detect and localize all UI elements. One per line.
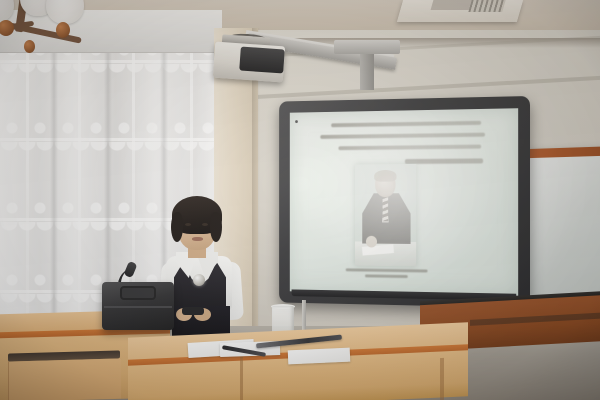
teacher-desk-leg [440, 358, 444, 400]
teacher-desk-panel-seam [240, 356, 243, 400]
projector-wall-bracket [334, 40, 400, 54]
presenter-hair-right [210, 212, 222, 242]
chandelier-shade [0, 0, 14, 22]
paper-sheet [288, 348, 351, 365]
chandelier [0, 0, 124, 72]
chandelier-ornament [56, 22, 70, 38]
chandelier-shade [46, 0, 84, 24]
projector-lens [239, 46, 285, 73]
side-cabinet-door[interactable] [8, 358, 121, 400]
ceiling-vent-grille [468, 0, 505, 12]
presenter-eye-left [185, 223, 191, 226]
classroom-photo [0, 0, 600, 400]
presenter-eye-right [202, 223, 208, 226]
interactive-whiteboard[interactable] [279, 96, 530, 308]
presenter-hair-left [171, 212, 183, 242]
projector-arm-wall-post [360, 48, 374, 90]
presenter-mouth [192, 237, 203, 241]
curtain-fold [26, 34, 29, 328]
chandelier-ornament [0, 20, 14, 36]
equipment-case-handle[interactable] [120, 286, 156, 300]
chandelier-ornament [24, 40, 35, 53]
curtain-fold [78, 34, 81, 328]
projection-glare [290, 108, 518, 296]
whiteboard-sensor-dot [295, 120, 298, 123]
equipment-case-seam [104, 306, 172, 308]
presenter-remote [182, 307, 204, 315]
presenter-brooch [193, 274, 205, 286]
curtain-fold-shadow [50, 34, 58, 328]
